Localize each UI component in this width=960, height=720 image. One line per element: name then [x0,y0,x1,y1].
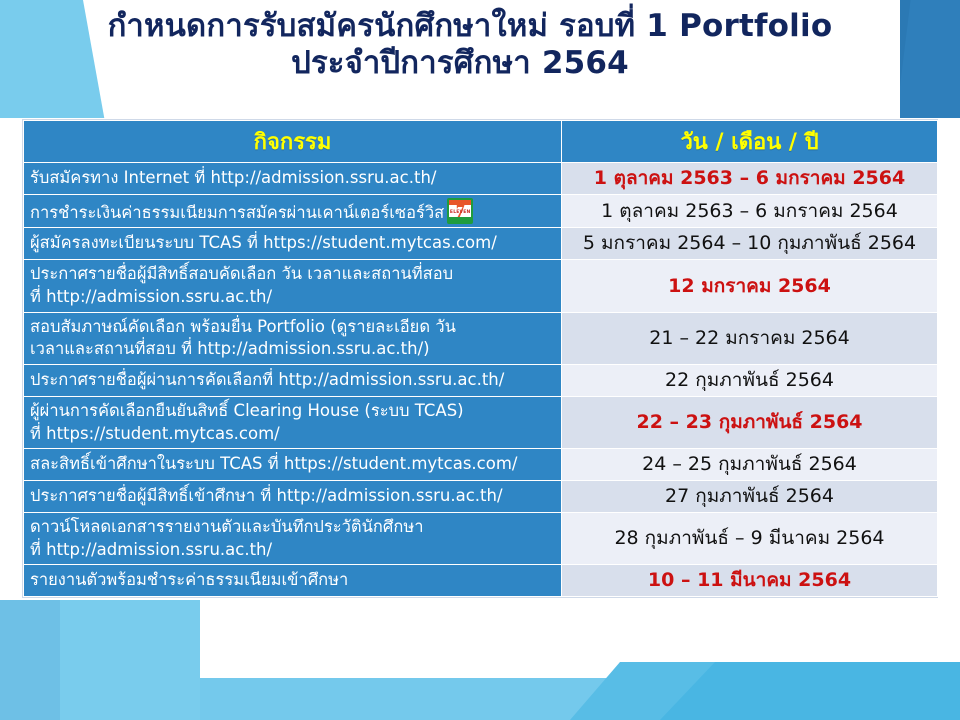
page-title: กำหนดการรับสมัครนักศึกษาใหม่ รอบที่ 1 Po… [0,8,900,81]
schedule-table-head: กิจกรรม วัน / เดือน / ปี [24,121,938,163]
table-row: สละสิทธิ์เข้าศึกษาในระบบ TCAS ที่ https:… [24,449,938,481]
activity-text-line-1: ประกาศรายชื่อผู้ผ่านการคัดเลือกที่ http:… [30,370,504,389]
activity-text-line-1: รายงานตัวพร้อมชำระค่าธรรมเนียมเข้าศึกษา [30,570,348,589]
table-cell-date: 24 – 25 กุมภาพันธ์ 2564 [562,449,938,481]
table-cell-activity: สละสิทธิ์เข้าศึกษาในระบบ TCAS ที่ https:… [24,449,562,481]
background-bottom-left-accent [0,600,60,720]
table-row: ประกาศรายชื่อผู้ผ่านการคัดเลือกที่ http:… [24,365,938,397]
table-row: สอบสัมภาษณ์คัดเลือก พร้อมยื่น Portfolio … [24,312,938,365]
activity-text-line-1: การชำระเงินค่าธรรมเนียมการสมัครผ่านเคาน์… [30,203,444,222]
schedule-table-container: กิจกรรม วัน / เดือน / ปี รับสมัครทาง Int… [22,119,938,598]
table-row: รายงานตัวพร้อมชำระค่าธรรมเนียมเข้าศึกษา1… [24,565,938,597]
table-cell-activity: ผู้ผ่านการคัดเลือกยืนยันสิทธิ์ Clearing … [24,396,562,449]
activity-text-line-1: สอบสัมภาษณ์คัดเลือก พร้อมยื่น Portfolio … [30,317,456,336]
table-cell-date: 10 – 11 มีนาคม 2564 [562,565,938,597]
activity-text-line-1: ดาวน์โหลดเอกสารรายงานตัวและบันทึกประวัติ… [30,517,424,536]
table-cell-date: 1 ตุลาคม 2563 – 6 มกราคม 2564 [562,194,938,228]
table-cell-date: 21 – 22 มกราคม 2564 [562,312,938,365]
table-cell-date: 27 กุมภาพันธ์ 2564 [562,481,938,513]
activity-text-line-1: ผู้สมัครลงทะเบียนระบบ TCAS ที่ https://s… [30,233,497,252]
activity-text-line-1: ประกาศรายชื่อผู้มีสิทธิ์เข้าศึกษา ที่ ht… [30,486,503,505]
table-row: ประกาศรายชื่อผู้มีสิทธิ์เข้าศึกษา ที่ ht… [24,481,938,513]
page-title-line-2: ประจำปีการศึกษา 2564 [0,45,900,82]
table-cell-activity: การชำระเงินค่าธรรมเนียมการสมัครผ่านเคาน์… [24,194,562,228]
table-cell-activity: รับสมัครทาง Internet ที่ http://admissio… [24,163,562,195]
schedule-table: กิจกรรม วัน / เดือน / ปี รับสมัครทาง Int… [23,120,938,597]
table-cell-date: 12 มกราคม 2564 [562,260,938,313]
column-header-date: วัน / เดือน / ปี [562,121,938,163]
activity-text-line-2: ที่ https://student.mytcas.com/ [30,423,555,446]
activity-text-line-2: ที่ http://admission.ssru.ac.th/ [30,539,555,562]
table-cell-date: 22 กุมภาพันธ์ 2564 [562,365,938,397]
table-cell-activity: ประกาศรายชื่อผู้มีสิทธิ์สอบคัดเลือก วัน … [24,260,562,313]
table-row: ผู้ผ่านการคัดเลือกยืนยันสิทธิ์ Clearing … [24,396,938,449]
table-header-row: กิจกรรม วัน / เดือน / ปี [24,121,938,163]
table-row: การชำระเงินค่าธรรมเนียมการสมัครผ่านเคาน์… [24,194,938,228]
table-cell-date: 22 – 23 กุมภาพันธ์ 2564 [562,396,938,449]
table-row: ดาวน์โหลดเอกสารรายงานตัวและบันทึกประวัติ… [24,512,938,565]
schedule-table-body: รับสมัครทาง Internet ที่ http://admissio… [24,163,938,597]
table-row: รับสมัครทาง Internet ที่ http://admissio… [24,163,938,195]
table-cell-date: 1 ตุลาคม 2563 – 6 มกราคม 2564 [562,163,938,195]
page-title-line-1: กำหนดการรับสมัครนักศึกษาใหม่ รอบที่ 1 Po… [0,8,900,45]
table-cell-activity: รายงานตัวพร้อมชำระค่าธรรมเนียมเข้าศึกษา [24,565,562,597]
table-row: ผู้สมัครลงทะเบียนระบบ TCAS ที่ https://s… [24,228,938,260]
seven-eleven-icon: 7ELEVEN [447,198,473,224]
activity-text-line-2: เวลาและสถานที่สอบ ที่ http://admission.s… [30,338,555,361]
column-header-activity: กิจกรรม [24,121,562,163]
activity-text-line-1: ผู้ผ่านการคัดเลือกยืนยันสิทธิ์ Clearing … [30,401,464,420]
activity-text-line-1: ประกาศรายชื่อผู้มีสิทธิ์สอบคัดเลือก วัน … [30,264,453,283]
table-cell-activity: ผู้สมัครลงทะเบียนระบบ TCAS ที่ https://s… [24,228,562,260]
table-cell-date: 5 มกราคม 2564 – 10 กุมภาพันธ์ 2564 [562,228,938,260]
table-cell-activity: ประกาศรายชื่อผู้มีสิทธิ์เข้าศึกษา ที่ ht… [24,481,562,513]
activity-text-line-2: ที่ http://admission.ssru.ac.th/ [30,286,555,309]
activity-text-line-1: สละสิทธิ์เข้าศึกษาในระบบ TCAS ที่ https:… [30,454,517,473]
seven-eleven-icon-word: ELEVEN [449,210,471,216]
activity-text-line-1: รับสมัครทาง Internet ที่ http://admissio… [30,168,436,187]
table-cell-activity: ดาวน์โหลดเอกสารรายงานตัวและบันทึกประวัติ… [24,512,562,565]
table-cell-activity: สอบสัมภาษณ์คัดเลือก พร้อมยื่น Portfolio … [24,312,562,365]
table-cell-activity: ประกาศรายชื่อผู้ผ่านการคัดเลือกที่ http:… [24,365,562,397]
table-row: ประกาศรายชื่อผู้มีสิทธิ์สอบคัดเลือก วัน … [24,260,938,313]
table-cell-date: 28 กุมภาพันธ์ – 9 มีนาคม 2564 [562,512,938,565]
